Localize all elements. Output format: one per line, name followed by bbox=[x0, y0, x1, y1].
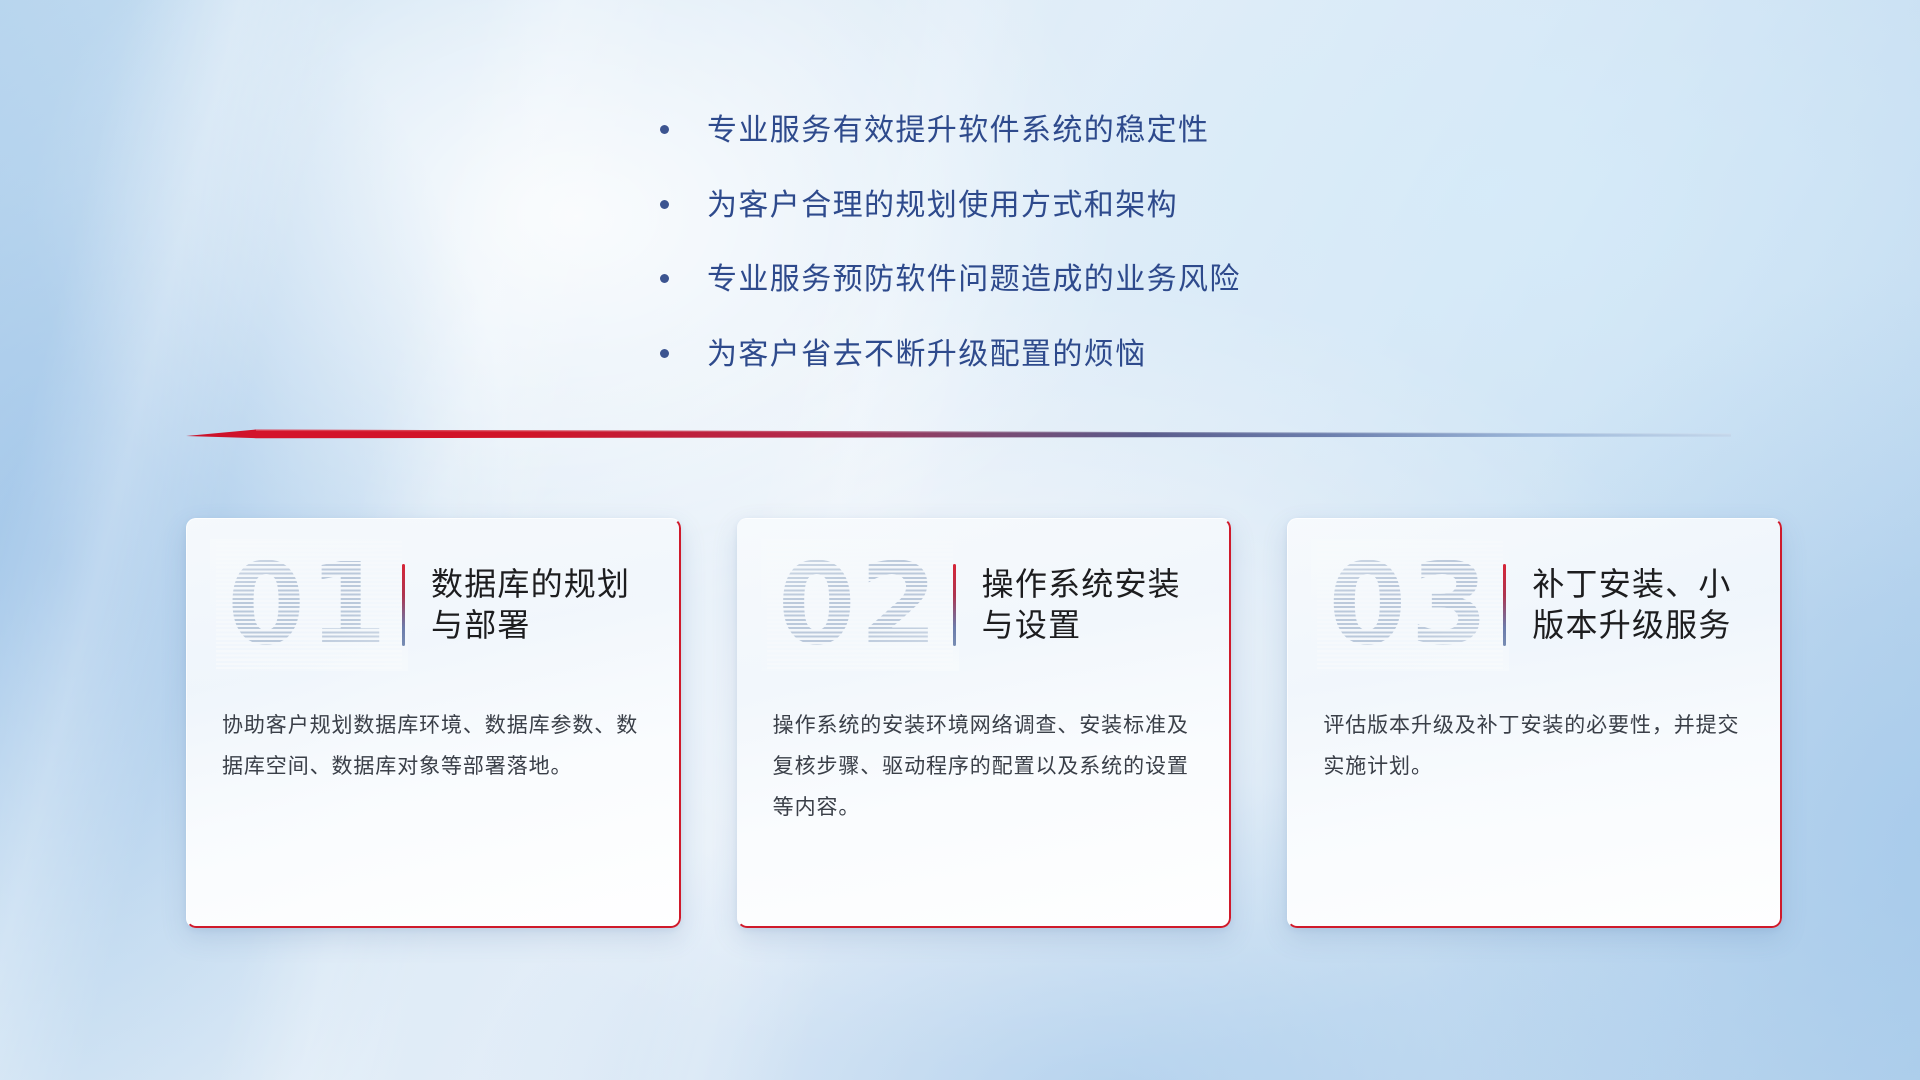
card-title: 补丁安装、小版本升级服务 bbox=[1532, 564, 1782, 646]
card-number-text: 03 bbox=[1328, 549, 1492, 661]
card-divider-bar-icon bbox=[402, 564, 405, 646]
card-number-text: 02 bbox=[778, 549, 942, 661]
service-card[interactable]: 02 操作系统安装与设置 操作系统的安装环境网络调查、安装标准及复核步骤、驱动程… bbox=[737, 518, 1232, 928]
bullet-text: 为客户合理的规划使用方式和架构 bbox=[707, 187, 1178, 225]
bullet-dot-icon bbox=[660, 349, 669, 358]
bullet-text: 为客户省去不断升级配置的烦恼 bbox=[707, 336, 1147, 374]
card-divider-bar-icon bbox=[953, 564, 956, 646]
card-number-watermark: 03 bbox=[1321, 545, 1499, 665]
card-title: 操作系统安装与设置 bbox=[982, 564, 1232, 646]
card-body-text: 评估版本升级及补丁安装的必要性，并提交实施计划。 bbox=[1287, 692, 1782, 788]
card-number-watermark: 01 bbox=[220, 545, 398, 665]
card-number-text: 01 bbox=[227, 549, 391, 661]
bullet-dot-icon bbox=[660, 274, 669, 283]
slide-canvas: 专业服务有效提升软件系统的稳定性 为客户合理的规划使用方式和架构 专业服务预防软… bbox=[0, 0, 1920, 1080]
card-divider-bar-icon bbox=[1503, 564, 1506, 646]
bullet-dot-icon bbox=[660, 125, 669, 134]
card-header: 03 补丁安装、小版本升级服务 bbox=[1287, 518, 1782, 692]
card-header: 02 操作系统安装与设置 bbox=[737, 518, 1232, 692]
card-number-watermark: 02 bbox=[771, 545, 949, 665]
list-item: 专业服务有效提升软件系统的稳定性 bbox=[660, 112, 1520, 150]
service-card[interactable]: 03 补丁安装、小版本升级服务 评估版本升级及补丁安装的必要性，并提交实施计划。 bbox=[1287, 518, 1782, 928]
card-title: 数据库的规划与部署 bbox=[431, 564, 681, 646]
card-body-text: 协助客户规划数据库环境、数据库参数、数据库空间、数据库对象等部署落地。 bbox=[186, 692, 681, 788]
list-item: 专业服务预防软件问题造成的业务风险 bbox=[660, 261, 1520, 299]
list-item: 为客户省去不断升级配置的烦恼 bbox=[660, 336, 1520, 374]
benefits-bullet-list: 专业服务有效提升软件系统的稳定性 为客户合理的规划使用方式和架构 专业服务预防软… bbox=[660, 112, 1520, 410]
service-card-list: 01 数据库的规划与部署 协助客户规划数据库环境、数据库参数、数据库空间、数据库… bbox=[186, 518, 1782, 928]
bullet-text: 专业服务预防软件问题造成的业务风险 bbox=[707, 261, 1241, 299]
tapered-rule-icon bbox=[186, 425, 1731, 447]
bullet-dot-icon bbox=[660, 200, 669, 209]
list-item: 为客户合理的规划使用方式和架构 bbox=[660, 187, 1520, 225]
card-header: 01 数据库的规划与部署 bbox=[186, 518, 681, 692]
service-card[interactable]: 01 数据库的规划与部署 协助客户规划数据库环境、数据库参数、数据库空间、数据库… bbox=[186, 518, 681, 928]
section-divider bbox=[186, 425, 1731, 447]
card-body-text: 操作系统的安装环境网络调查、安装标准及复核步骤、驱动程序的配置以及系统的设置等内… bbox=[737, 692, 1232, 829]
bullet-text: 专业服务有效提升软件系统的稳定性 bbox=[707, 112, 1209, 150]
